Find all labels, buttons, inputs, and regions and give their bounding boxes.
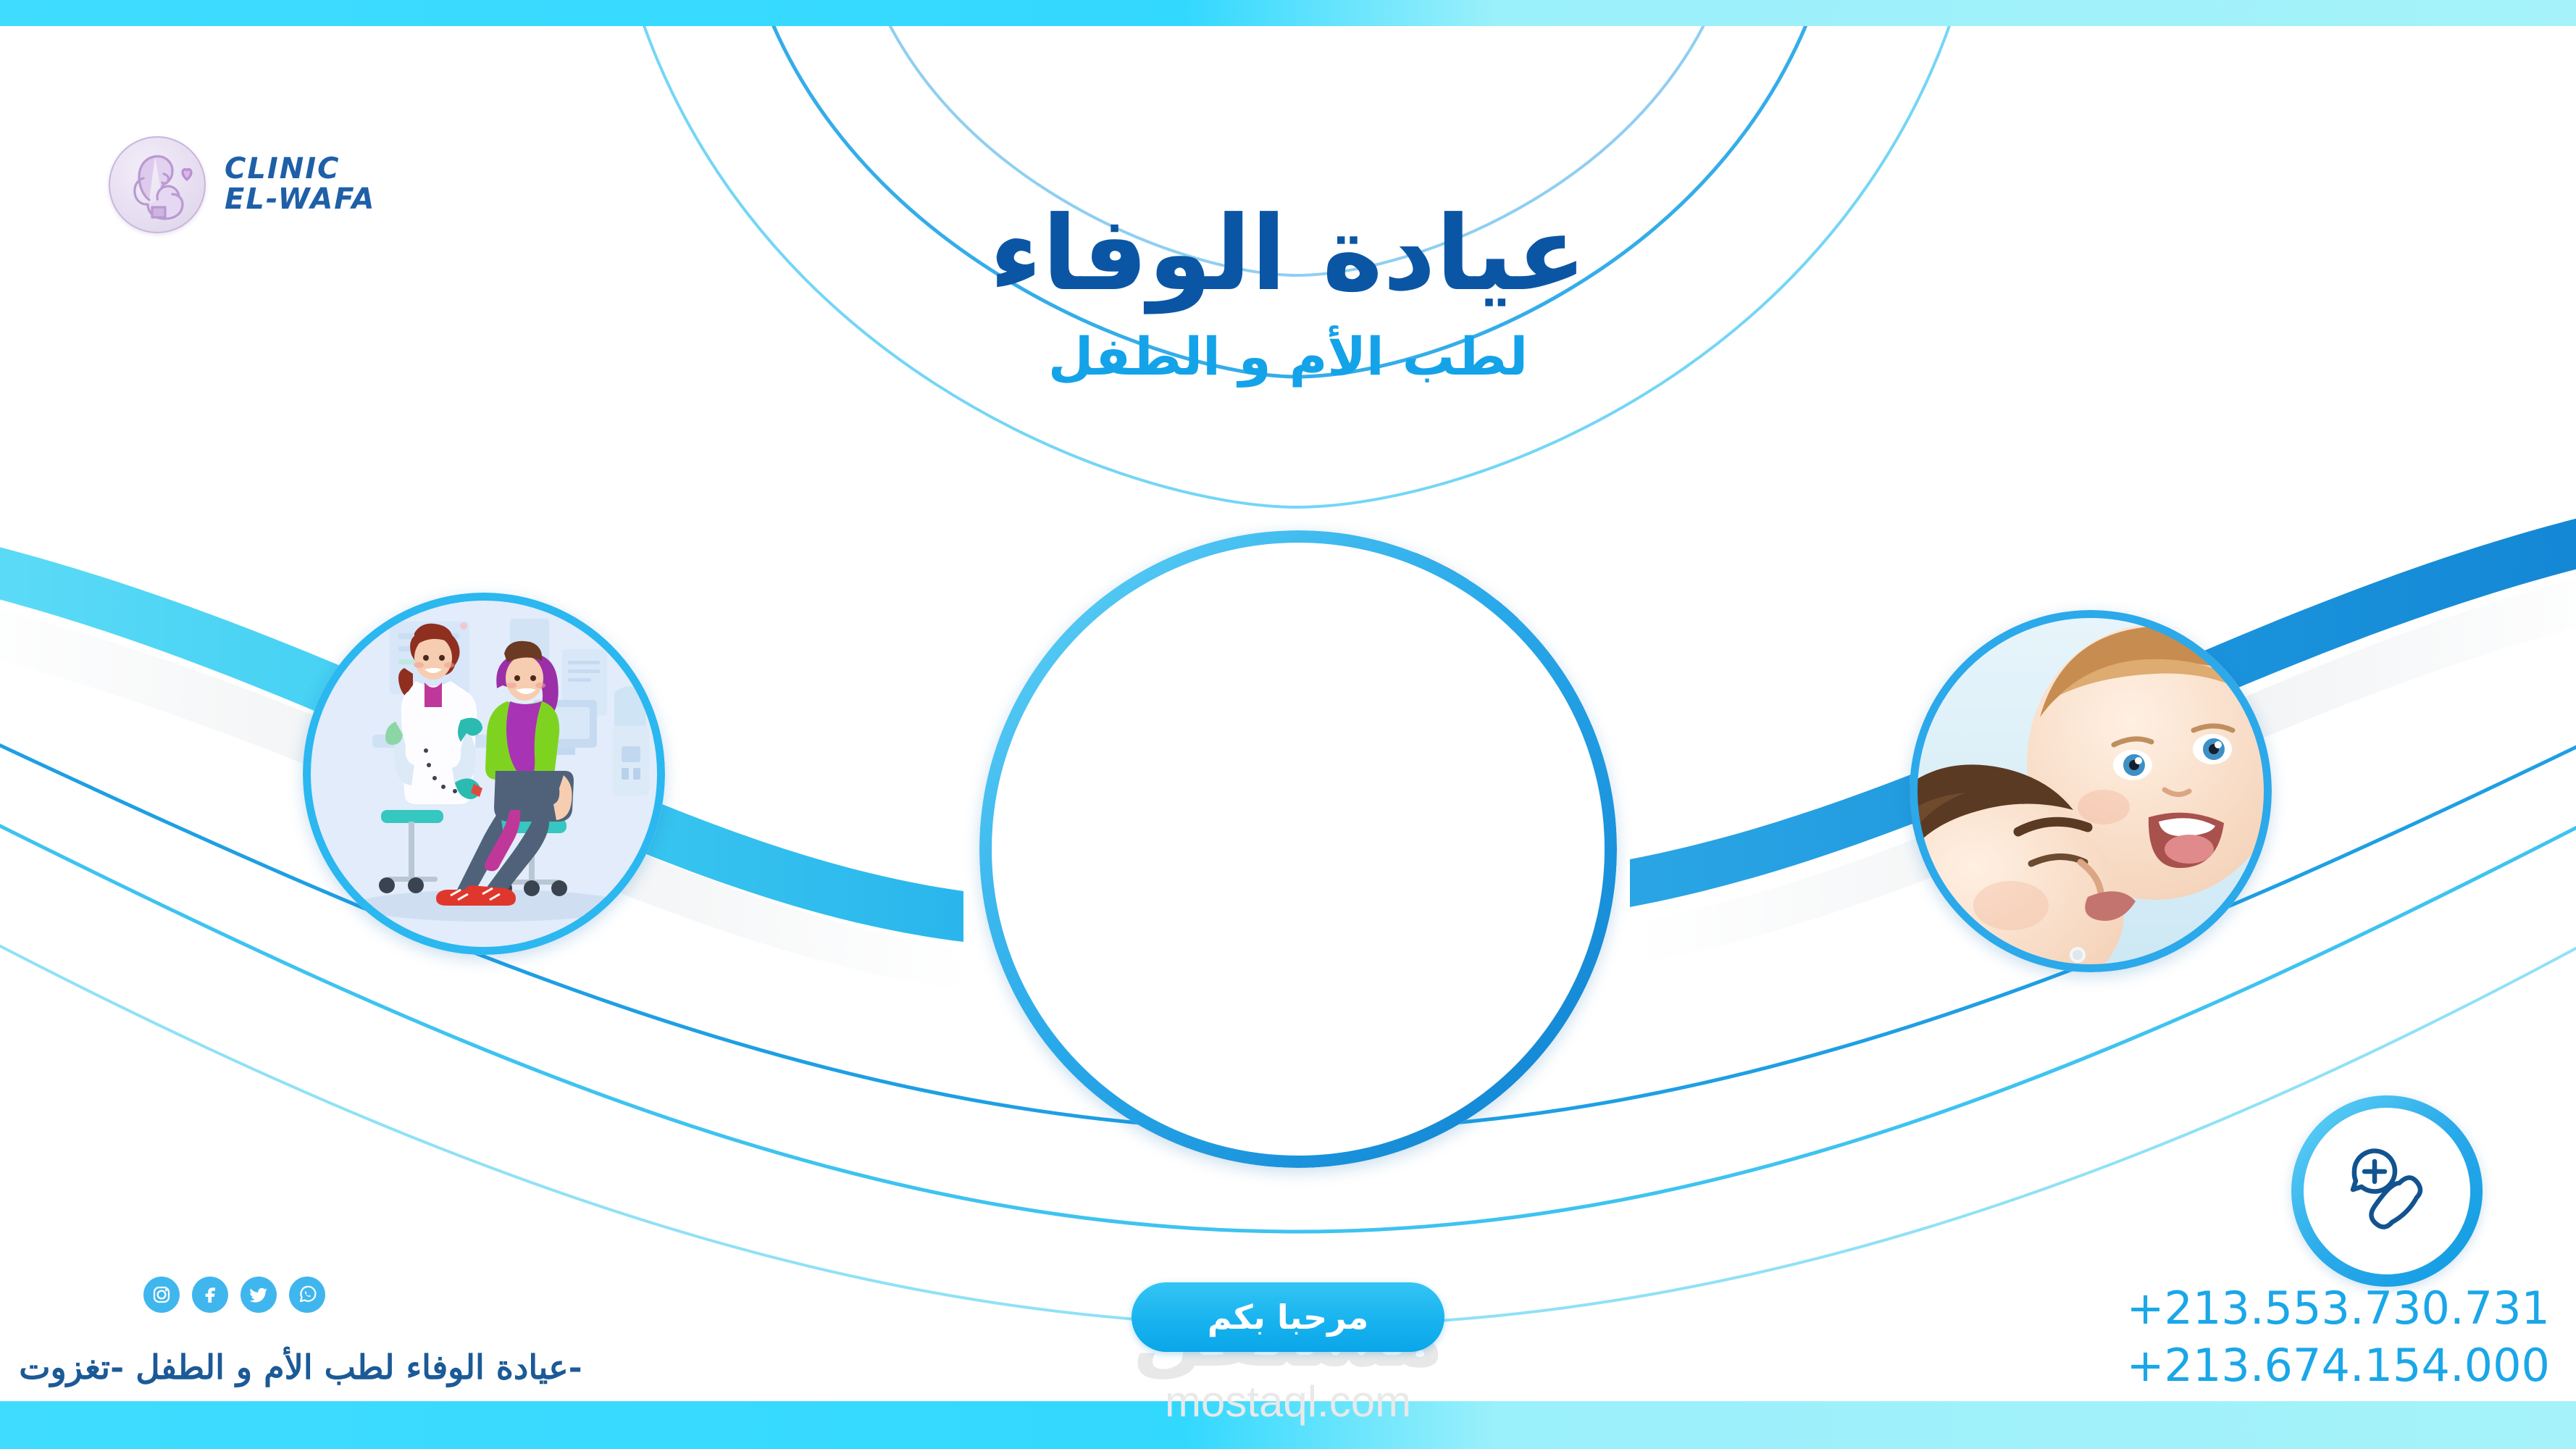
headline-block: عيادة الوفاء لطب الأم و الطفل — [0, 203, 2576, 383]
bottom-accent-bar — [0, 1401, 2576, 1449]
doctor-and-patient-illustration — [303, 593, 665, 955]
clinic-address: -عيادة الوفاء لطب الأم و الطفل -تغزوت — [0, 1349, 601, 1386]
page-title: عيادة الوفاء — [0, 203, 2576, 306]
page-subtitle: لطب الأم و الطفل — [0, 330, 2576, 383]
welcome-button[interactable]: مرحبا بكم — [1132, 1282, 1444, 1352]
mother-kissing-baby-photo — [1910, 610, 2272, 972]
welcome-cta-wrap: مرحبا بكم — [0, 1282, 2576, 1352]
logo-line-1: CLINIC — [225, 154, 375, 185]
clinic-banner: CLINIC EL-WAFA عيادة الوفاء لطب الأم و ا… — [0, 0, 2576, 1449]
welcome-button-label: مرحبا بكم — [1208, 1298, 1368, 1337]
top-accent-bar — [0, 0, 2576, 26]
baby-checkup-photo — [979, 530, 1617, 1168]
medical-phone-icon[interactable] — [2291, 1095, 2483, 1287]
